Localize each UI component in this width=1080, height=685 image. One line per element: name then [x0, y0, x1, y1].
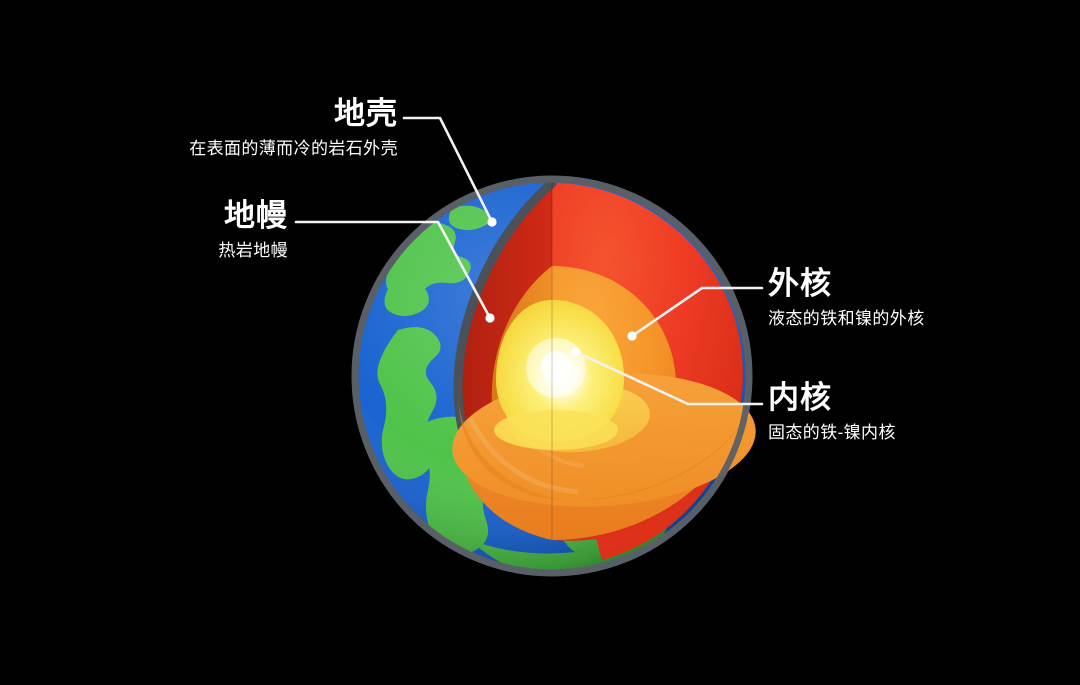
- callout-outer-core-title: 外核: [768, 268, 1028, 301]
- inner-core-hotspot: [541, 351, 571, 381]
- callout-crust: 地壳 在表面的薄而冷的岩石外壳: [140, 98, 398, 157]
- leader-dot-mantle: [485, 313, 494, 322]
- callout-outer-core: 外核 液态的铁和镍的外核: [768, 268, 1028, 327]
- leader-dot-inner-core: [571, 347, 580, 356]
- diagram-canvas: 地壳 在表面的薄而冷的岩石外壳 地幔 热岩地幔 外核 液态的铁和镍的外核 内核 …: [0, 0, 1080, 685]
- callout-inner-core: 内核 固态的铁-镍内核: [768, 382, 1028, 441]
- callout-inner-core-title: 内核: [768, 382, 1028, 415]
- leader-dot-crust: [487, 217, 496, 226]
- callout-mantle-title: 地幔: [110, 200, 288, 233]
- callout-inner-core-subtitle: 固态的铁-镍内核: [768, 424, 1028, 442]
- callout-mantle: 地幔 热岩地幔: [110, 200, 288, 259]
- leader-dot-outer-core: [627, 331, 636, 340]
- inner-core-base: [494, 410, 618, 450]
- callout-crust-title: 地壳: [140, 98, 398, 131]
- callout-mantle-subtitle: 热岩地幔: [110, 242, 288, 260]
- callout-crust-subtitle: 在表面的薄而冷的岩石外壳: [140, 140, 398, 158]
- callout-outer-core-subtitle: 液态的铁和镍的外核: [768, 310, 1028, 328]
